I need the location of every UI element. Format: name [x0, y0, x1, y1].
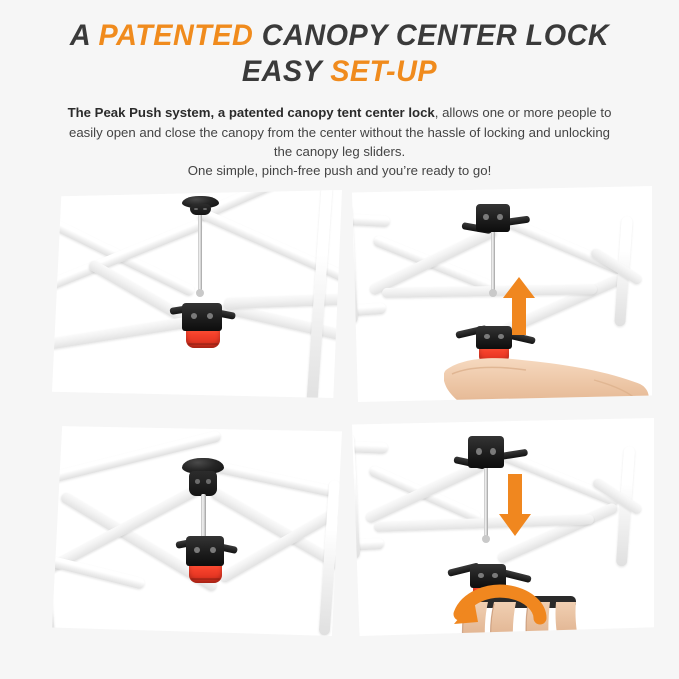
description-closing: One simple, pinch-free push and you’re r… — [62, 161, 617, 180]
frame-tube-vertical-leg — [52, 491, 55, 636]
black-center-hub — [186, 536, 224, 566]
black-top-knob-body — [189, 471, 217, 496]
headline-line-2: EASY SET-UP — [39, 54, 641, 91]
panel-hands-releasing-center-lock-down — [352, 418, 654, 636]
header-section: A PATENTED CANOPY CENTER LOCK EASY SET-U… — [0, 0, 679, 181]
orange-twist-arrow — [452, 556, 562, 636]
orange-down-arrow — [498, 474, 532, 536]
open-palm-hand — [444, 354, 652, 402]
black-top-knob-body — [190, 204, 211, 215]
panel-hand-pushing-center-lock-up — [352, 186, 652, 402]
chrome-push-rod — [198, 210, 202, 292]
frame-tube — [209, 487, 342, 572]
headline-line-1: A PATENTED CANOPY CENTER LOCK — [39, 18, 641, 55]
rod-tip — [196, 289, 204, 297]
headline-text-easy: EASY — [242, 55, 330, 88]
scene-opening — [352, 186, 652, 402]
frame-tube — [352, 212, 390, 227]
panel-canopy-locked-open — [52, 424, 342, 636]
product-photo-grid — [0, 186, 679, 656]
description-paragraph: The Peak Push system, a patented canopy … — [26, 103, 653, 181]
scene-closing — [352, 418, 654, 636]
page-title: A PATENTED CANOPY CENTER LOCK EASY SET-U… — [39, 18, 641, 90]
chrome-push-rod — [484, 464, 488, 538]
frame-tube — [352, 440, 388, 454]
black-top-hub — [476, 204, 510, 232]
scene-collapsed — [52, 190, 342, 398]
headline-text-canopy-center-lock: CANOPY CENTER LOCK — [253, 19, 609, 52]
headline-accent-patented: PATENTED — [99, 19, 254, 52]
headline-text-a: A — [70, 19, 99, 52]
rod-tip — [489, 289, 497, 297]
headline-accent-setup: SET-UP — [330, 55, 437, 88]
chrome-push-rod — [201, 494, 206, 538]
orange-up-arrow — [502, 277, 536, 335]
black-center-hub — [182, 303, 222, 331]
rod-tip — [482, 535, 490, 543]
black-top-hub — [468, 436, 504, 468]
chrome-push-rod — [491, 230, 495, 292]
description-lead: The Peak Push system, a patented canopy … — [68, 105, 435, 120]
panel-canopy-collapsed-center-lock — [52, 190, 342, 398]
scene-locked-open — [52, 424, 342, 636]
